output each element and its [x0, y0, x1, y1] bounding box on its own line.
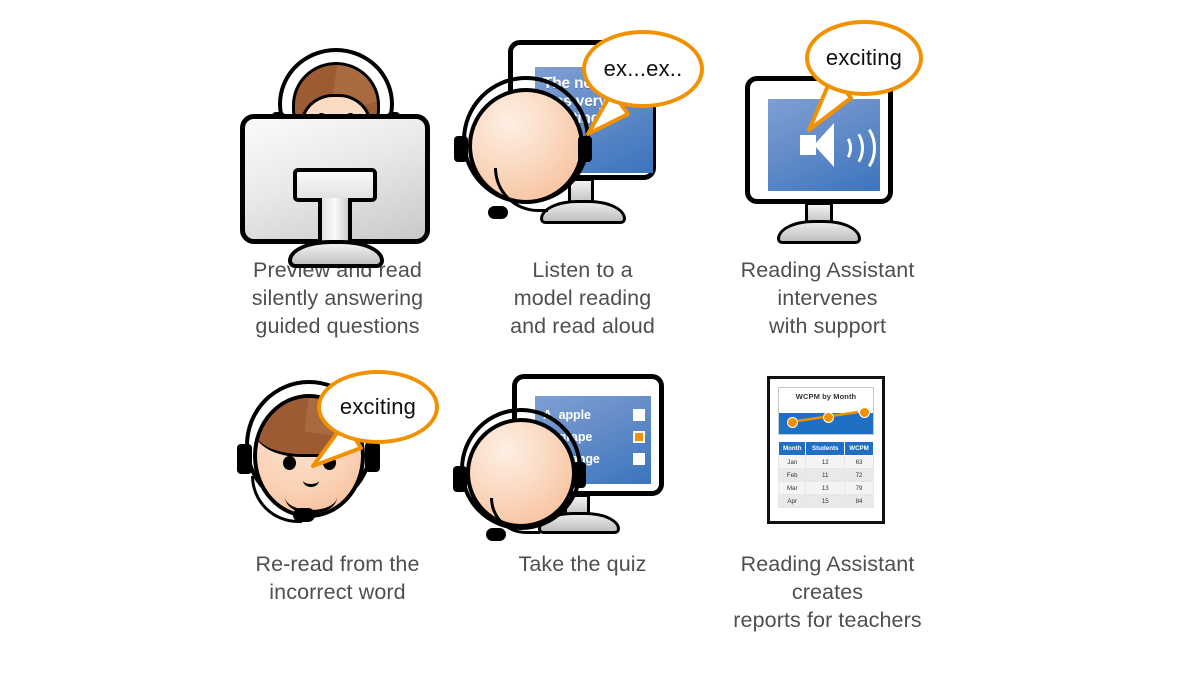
step-caption: Take the quiz	[458, 550, 708, 578]
speech-bubble: exciting	[805, 20, 923, 96]
step-take-the-quiz: A. apple B. grape C. orange	[460, 366, 705, 658]
art-student-headset-at-monitor: The new game was very exciting. ex...ex.…	[460, 18, 705, 256]
infographic-canvas: Preview and read silently answering guid…	[0, 0, 1200, 676]
step-preview-and-read: Preview and read silently answering guid…	[215, 18, 460, 366]
step-assistant-intervenes: exciting Reading Assistant intervenes wi…	[705, 18, 950, 366]
steps-grid: Preview and read silently answering guid…	[215, 18, 985, 658]
quiz-option-checkbox-selected[interactable]	[633, 431, 645, 443]
monitor-mount-plate	[293, 168, 377, 202]
chart-marker-2	[823, 412, 834, 423]
step-caption: Listen to a model reading and read aloud	[458, 256, 708, 340]
step-listen-to-model: The new game was very exciting. ex...ex.…	[460, 18, 705, 366]
art-smiling-student-headset: exciting	[215, 366, 460, 546]
table-header-row: Month Students WCPM	[779, 442, 874, 456]
table-row: Apr 15 84	[779, 495, 874, 508]
speech-bubble-text: ex...ex..	[604, 56, 683, 82]
quiz-option-checkbox[interactable]	[633, 453, 645, 465]
column-header-students: Students	[806, 442, 845, 456]
report-document: WCPM by Month Month Students	[767, 376, 885, 524]
step-caption: Reading Assistant creates reports for te…	[703, 550, 953, 634]
chart-marker-1	[787, 417, 798, 428]
wcpm-chart: WCPM by Month	[778, 387, 874, 435]
speech-bubble: exciting	[317, 370, 439, 444]
table-row: Feb 11 72	[779, 469, 874, 482]
step-caption: Preview and read silently answering guid…	[213, 256, 463, 340]
art-student-peeking-over-monitor	[215, 18, 460, 256]
quiz-option-checkbox[interactable]	[633, 409, 645, 421]
step-caption: Re-read from the incorrect word	[213, 550, 463, 606]
art-report-page: WCPM by Month Month Students	[705, 366, 950, 546]
table-row: Mar 13 79	[779, 482, 874, 495]
step-re-read-incorrect-word: exciting Re-read from the incorrect word	[215, 366, 460, 658]
speech-bubble: ex...ex..	[582, 30, 704, 108]
speech-bubble-text: exciting	[826, 45, 902, 71]
column-header-wcpm: WCPM	[845, 442, 874, 456]
step-reports-for-teachers: WCPM by Month Month Students	[705, 366, 950, 658]
monitor-base	[288, 240, 384, 268]
step-caption: Reading Assistant intervenes with suppor…	[703, 256, 953, 340]
art-monitor-with-speaker: exciting	[705, 18, 950, 256]
chart-marker-3	[859, 407, 870, 418]
speech-bubble-text: exciting	[340, 394, 416, 420]
headset-microphone-icon	[486, 528, 506, 541]
wcpm-table: Month Students WCPM Jan 12 63	[778, 441, 874, 508]
table-row: Jan 12 63	[779, 456, 874, 469]
column-header-month: Month	[779, 442, 806, 456]
headset-earpiece-right-icon	[572, 462, 586, 488]
art-student-headset-quiz-monitor: A. apple B. grape C. orange	[460, 366, 705, 546]
